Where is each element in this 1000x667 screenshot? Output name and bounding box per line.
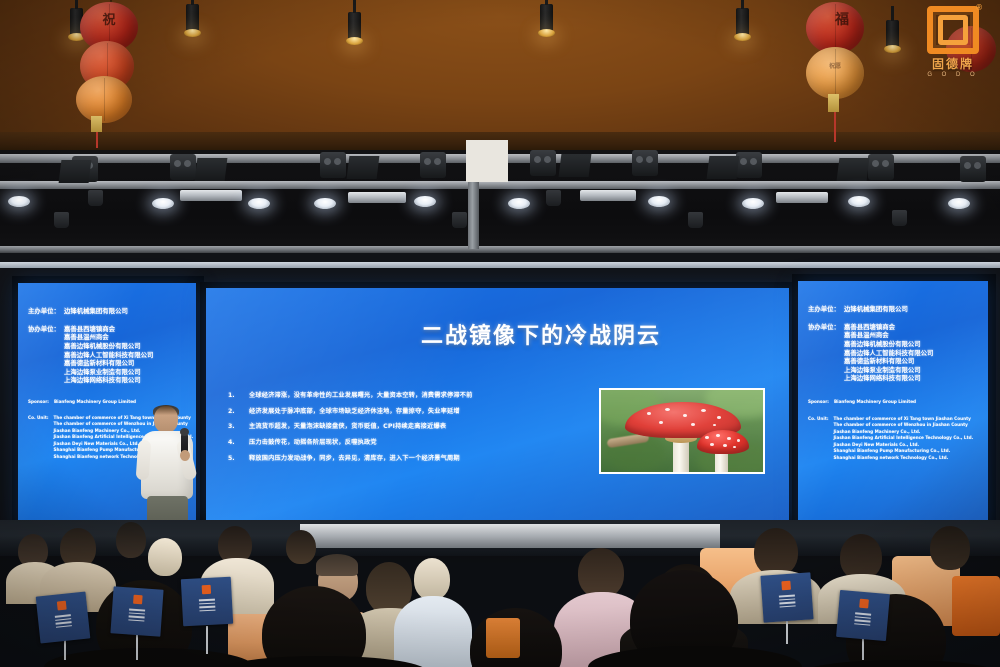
- presenter-head: [154, 406, 178, 433]
- audience-head: [754, 528, 798, 576]
- ceiling-spotlight: [348, 12, 361, 40]
- co-unit-item: 嘉善边锋人工智能科技有限公司: [844, 349, 933, 358]
- lantern-glyph: 祝: [80, 9, 138, 28]
- led-bar-light: [580, 190, 636, 201]
- sponsor-label: Sponsor:: [808, 399, 829, 406]
- co-unit-item: 嘉善县西塘镇商会: [844, 323, 933, 332]
- stage-light-beam: [8, 196, 30, 207]
- bullet-text: 主流货币超发，天量泡沫缺接盘侠，货币贬值，CPI持续走高接近爆表: [249, 423, 446, 430]
- audience-head: [930, 526, 970, 570]
- barn-door-flap: [707, 156, 740, 179]
- co-unit-en-item: Shanghai Bianfeng network Technology Co.…: [834, 455, 974, 462]
- presenter-arm-left: [136, 440, 152, 481]
- company-logo-icon: [781, 581, 791, 591]
- par-can-light: [530, 150, 556, 176]
- barn-door-flap: [837, 158, 870, 181]
- stage-light-beam: [848, 196, 870, 207]
- foreground-shoulders: [44, 648, 254, 667]
- co-unit-list: 嘉善县西塘镇商会 嘉善县温州商会 嘉善边锋机械股份有限公司 嘉善边锋人工智能科技…: [844, 323, 933, 383]
- table-tent-card[interactable]: [36, 592, 91, 644]
- foreground-shoulders: [800, 660, 1000, 667]
- barn-door-flap: [59, 160, 92, 183]
- par-can-light: [960, 156, 986, 182]
- main-led-screen[interactable]: 二战镜像下的冷战阴云 1. 全球经济滞涨，没有革命性的工业发展曙光，大量资本空转…: [206, 288, 789, 520]
- par-can-light: [868, 154, 894, 180]
- co-unit-item: 嘉善县温州商会: [844, 331, 933, 340]
- stage-light-beam: [948, 198, 970, 209]
- tent-card-stand: [786, 620, 788, 644]
- ceiling-spotlight: [186, 4, 199, 32]
- sponsor-value: Bianfeng Machinery Group Limited: [834, 399, 916, 406]
- right-slide-content: 主办单位： 边锋机械集团有限公司 协办单位： 嘉善县西塘镇商会 嘉善县温州商会 …: [798, 281, 988, 531]
- led-bar-light: [776, 192, 828, 203]
- co-unit-item: 嘉善县温州商会: [64, 333, 153, 342]
- tent-card-text-lines: [128, 608, 145, 621]
- stage-lamp-housing: [88, 190, 103, 206]
- co-unit-label: 协办单位：: [28, 325, 60, 385]
- registered-mark: ®: [976, 3, 982, 12]
- ceiling-spotlight: [736, 8, 749, 36]
- tent-card-stand: [206, 626, 208, 654]
- slide-bullet: 1. 全球经济滞涨，没有革命性的工业发展曙光，大量资本空转，消费需求停滞不前: [228, 392, 580, 399]
- right-led-screen[interactable]: 主办单位： 边锋机械集团有限公司 协办单位： 嘉善县西塘镇商会 嘉善县温州商会 …: [798, 281, 988, 531]
- tent-card-text-lines: [779, 594, 796, 607]
- mushroom-cap-small: [697, 430, 749, 454]
- audience-head: [578, 548, 624, 598]
- godo-cube-icon: ®: [927, 6, 979, 54]
- lantern-orange-right: 祝愿: [806, 47, 864, 99]
- table-tent-card[interactable]: [760, 572, 813, 622]
- host-value: 边锋机械集团有限公司: [844, 305, 908, 314]
- stage-lamp-housing: [892, 210, 907, 226]
- lantern-orange-left: [76, 76, 132, 123]
- ceiling-spotlight: [886, 20, 899, 48]
- ceiling-white-panel: [466, 140, 508, 182]
- stage-lamp-housing: [688, 212, 703, 228]
- orange-bag: [486, 618, 520, 658]
- wall-light-strip: [0, 262, 1000, 268]
- tent-card-stand: [64, 638, 66, 660]
- slide-bullet: 5. 释放国内压力发动战争，同步，去异见，清库存，进入下一个经济景气周期: [228, 455, 580, 462]
- tent-card-text-lines: [854, 612, 871, 625]
- audience-hair: [316, 554, 358, 576]
- audience-area: [0, 520, 1000, 667]
- bullet-text: 压力击鼓传花，动摇各阶层现状，反噬执政党: [249, 439, 377, 446]
- co-unit-item: 嘉善县西塘镇商会: [64, 325, 153, 334]
- co-unit-item: 嘉善边锋机械股份有限公司: [844, 340, 933, 349]
- bullet-number: 5.: [228, 455, 240, 462]
- table-tent-card[interactable]: [110, 586, 163, 636]
- bullet-text: 释放国内压力发动战争，同步，去异见，清库存，进入下一个经济景气周期: [249, 455, 460, 462]
- led-bar-light: [180, 190, 242, 201]
- slide-bullet-list: 1. 全球经济滞涨，没有革命性的工业发展曙光，大量资本空转，消费需求停滞不前 2…: [228, 392, 580, 470]
- barn-door-flap: [347, 156, 380, 179]
- conference-photo-scene: 祝 福 祝愿: [0, 0, 1000, 667]
- stage-lamp-housing: [54, 212, 69, 228]
- host-label: 主办单位：: [28, 307, 60, 316]
- stage-light-beam: [314, 198, 336, 209]
- bullet-number: 3.: [228, 423, 240, 430]
- par-can-light: [420, 152, 446, 178]
- bullet-number: 2.: [228, 408, 240, 415]
- lantern-tag: [91, 116, 102, 132]
- led-bar-light: [348, 192, 406, 203]
- slide-bullet: 4. 压力击鼓传花，动摇各阶层现状，反噬执政党: [228, 439, 580, 446]
- stage-light-beam: [508, 198, 530, 209]
- slide-title: 二战镜像下的冷战阴云: [421, 318, 751, 350]
- company-logo-icon: [133, 595, 143, 605]
- godo-logo-watermark: ® 固德牌 G O D O: [914, 4, 992, 88]
- fly-agaric-mushroom-photo: [599, 388, 765, 474]
- barn-door-flap: [559, 154, 592, 177]
- sponsor-label: Sponsor:: [28, 399, 49, 406]
- presenter-hand: [180, 450, 190, 461]
- watermark-chinese-name: 固德牌: [914, 55, 992, 72]
- co-unit-item: 嘉善德盐新材料有限公司: [844, 357, 933, 366]
- audience-head-cap: [414, 558, 450, 600]
- table-tent-card[interactable]: [836, 590, 890, 641]
- co-unit-item: 嘉善边锋人工智能科技有限公司: [64, 351, 153, 360]
- par-can-light: [170, 154, 196, 180]
- audience-shoulders: [394, 596, 472, 667]
- par-can-light: [320, 152, 346, 178]
- co-unit-list: 嘉善县西塘镇商会 嘉善县温州商会 嘉善边锋机械股份有限公司 嘉善边锋人工智能科技…: [64, 325, 153, 385]
- stage-light-beam: [648, 196, 670, 207]
- truss-beam-middle: [0, 181, 1000, 189]
- co-unit-label: 协办单位：: [808, 323, 840, 383]
- co-unit-en-list: The chamber of commerce of Xi Tang town …: [834, 416, 974, 462]
- par-can-light: [736, 152, 762, 178]
- co-unit-item: 上海边锋网络科技有限公司: [64, 376, 153, 385]
- tent-card-text-lines: [55, 614, 72, 628]
- co-unit-en-label: Co. Unit:: [28, 415, 49, 461]
- co-unit-en-label: Co. Unit:: [808, 416, 829, 462]
- stage-lamp-housing: [546, 190, 561, 206]
- par-can-light: [632, 150, 658, 176]
- co-unit-en-line: Co. Unit: The chamber of commerce of Xi …: [808, 416, 980, 462]
- audience-head: [116, 522, 146, 558]
- barn-door-flap: [195, 158, 228, 181]
- tent-card-text-lines: [199, 599, 216, 612]
- co-unit-item: 上海边锋网络科技有限公司: [844, 374, 933, 383]
- company-logo-icon: [859, 599, 869, 609]
- audience-head-cap: [148, 538, 182, 576]
- co-unit-item: 嘉善德盐新材料有限公司: [64, 359, 153, 368]
- host-value: 边锋机械集团有限公司: [64, 307, 128, 316]
- orange-tote-bag: [952, 576, 1000, 636]
- stage-lamp-housing: [452, 212, 467, 228]
- bullet-text: 经济发展处于脉冲底部，全球市场缺乏经济休洼地，存量掠夺，失业率延增: [249, 408, 460, 415]
- lantern-glyph: 福: [806, 9, 864, 29]
- host-label: 主办单位：: [808, 305, 840, 314]
- tent-card-stand: [862, 638, 864, 660]
- stage-light-beam: [414, 196, 436, 207]
- host-line: 主办单位： 边锋机械集团有限公司: [808, 305, 980, 314]
- lantern-tag: [828, 94, 839, 112]
- slide-bullet: 3. 主流货币超发，天量泡沫缺接盘侠，货币贬值，CPI持续走高接近爆表: [228, 423, 580, 430]
- co-unit-item: 嘉善边锋机械股份有限公司: [64, 342, 153, 351]
- stage-light-beam: [742, 198, 764, 209]
- bullet-text: 全球经济滞涨，没有革命性的工业发展曙光，大量资本空转，消费需求停滞不前: [249, 392, 473, 399]
- co-unit-line: 协办单位： 嘉善县西塘镇商会 嘉善县温州商会 嘉善边锋机械股份有限公司 嘉善边锋…: [808, 323, 980, 383]
- company-logo-icon: [202, 585, 211, 594]
- tent-card-stand: [136, 634, 138, 660]
- bullet-number: 4.: [228, 439, 240, 446]
- sponsor-value: Bianfeng Machinery Group Limited: [54, 399, 136, 406]
- watermark-english-name: G O D O: [914, 72, 992, 78]
- lantern-calligraphy: 祝愿: [806, 61, 864, 70]
- stage-light-beam: [248, 198, 270, 209]
- ceiling-spotlight: [540, 4, 553, 32]
- host-line: 主办单位： 边锋机械集团有限公司: [28, 307, 188, 316]
- co-unit-line: 协办单位： 嘉善县西塘镇商会 嘉善县温州商会 嘉善边锋机械股份有限公司 嘉善边锋…: [28, 325, 188, 385]
- table-tent-card[interactable]: [181, 577, 233, 627]
- company-logo-icon: [57, 601, 67, 611]
- truss-beam-lower: [0, 246, 1000, 253]
- bullet-number: 1.: [228, 392, 240, 399]
- stage-light-beam: [152, 198, 174, 209]
- audience-head: [286, 530, 316, 564]
- slide-bullet: 2. 经济发展处于脉冲底部，全球市场缺乏经济休洼地，存量掠夺，失业率延增: [228, 408, 580, 415]
- mushroom-stem-large: [673, 438, 689, 474]
